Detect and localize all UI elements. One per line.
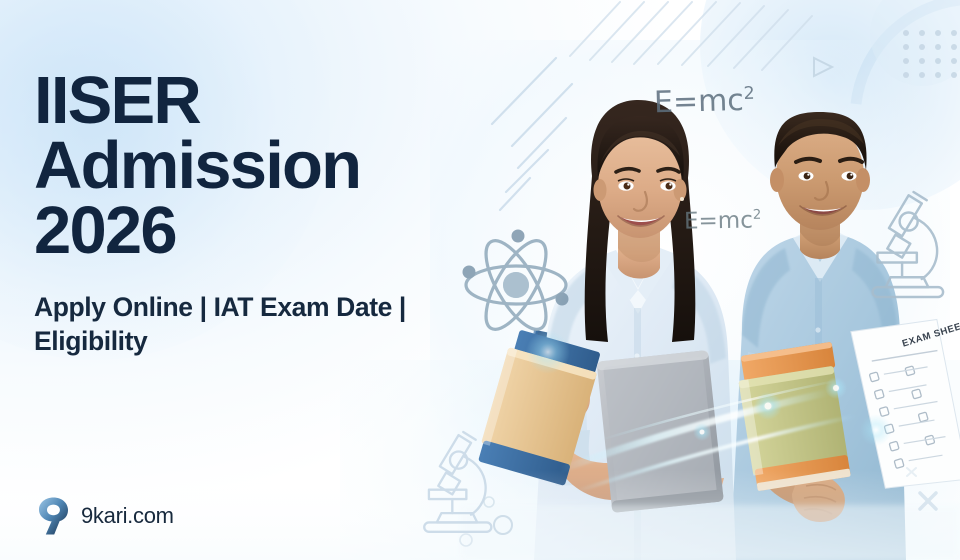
iiser-admission-banner: E=mc2 E=mc2 EXAM SHEET IISER Admission 2…	[0, 0, 960, 560]
brand-name-text: 9kari.com	[81, 503, 174, 529]
page-subtitle: Apply Online | IAT Exam Date | Eligibili…	[34, 291, 479, 359]
formula-emc2-secondary: E=mc2	[684, 207, 762, 234]
nine-logo-icon	[36, 496, 70, 536]
formula-text: E=mc	[684, 207, 753, 234]
formula-emc2-primary: E=mc2	[654, 83, 756, 121]
formula-exponent: 2	[753, 208, 762, 223]
headline-block: IISER Admission 2026 Apply Online | IAT …	[34, 68, 504, 359]
formula-text: E=mc	[654, 83, 745, 120]
page-title: IISER Admission 2026	[34, 68, 504, 263]
brand-logo[interactable]: 9kari.com	[36, 496, 174, 536]
formula-exponent: 2	[743, 84, 755, 104]
